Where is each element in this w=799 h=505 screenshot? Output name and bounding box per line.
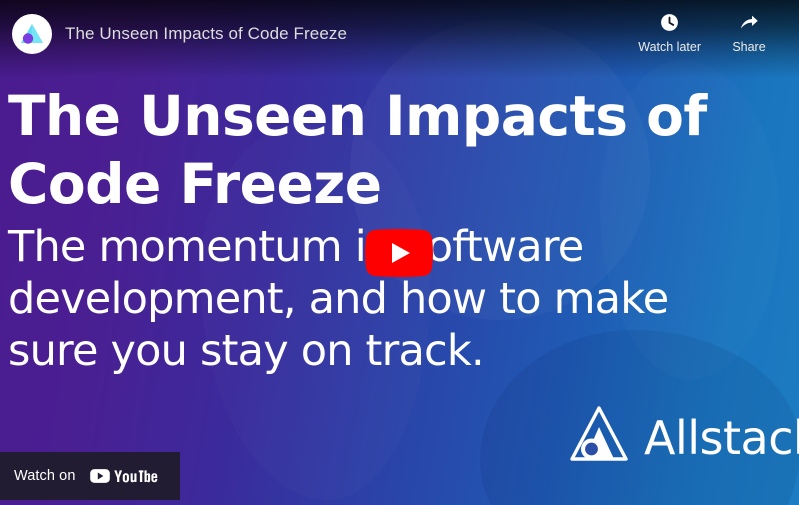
watch-later-label: Watch later <box>638 40 701 54</box>
video-title[interactable]: The Unseen Impacts of Code Freeze <box>65 24 347 44</box>
youtube-logo-icon <box>90 467 164 485</box>
thumbnail-headline: The Unseen Impacts of Code Freeze <box>8 82 739 218</box>
video-title-group[interactable]: The Unseen Impacts of Code Freeze <box>12 11 347 54</box>
share-arrow-icon <box>738 11 760 33</box>
share-button[interactable]: Share <box>725 11 773 54</box>
allstacks-triangle-icon <box>568 404 630 471</box>
allstacks-wordmark: Allstacks <box>644 411 799 465</box>
top-bar-actions: Watch later Share <box>638 11 787 54</box>
share-label: Share <box>732 40 765 54</box>
youtube-video-player[interactable]: The Unseen Impacts of Code Freeze The mo… <box>0 0 799 505</box>
watch-on-label: Watch on <box>14 468 76 484</box>
channel-avatar[interactable] <box>12 14 52 54</box>
player-top-bar: The Unseen Impacts of Code Freeze Watch … <box>0 0 799 68</box>
clock-icon <box>659 11 680 33</box>
watch-later-button[interactable]: Watch later <box>638 11 701 54</box>
watch-on-youtube-button[interactable]: Watch on <box>0 452 180 500</box>
allstacks-brand-lockup: Allstacks <box>568 404 799 471</box>
play-video-button[interactable] <box>365 229 433 277</box>
